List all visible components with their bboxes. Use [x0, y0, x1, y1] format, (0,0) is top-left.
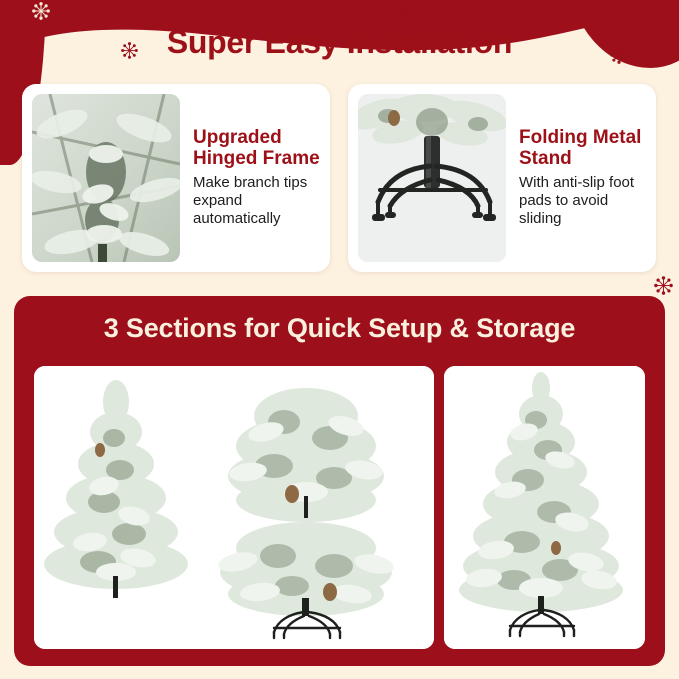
page-title: Super Easy Installation [0, 24, 679, 61]
feature-description: Make branch tips expand automatically [193, 174, 320, 227]
feature-photo-metal-stand [358, 94, 506, 262]
feature-text-block: Folding Metal Stand With anti-slip foot … [506, 128, 646, 227]
banner-title: 3 Sections for Quick Setup & Storage [14, 313, 665, 344]
section-card-tree-parts [34, 366, 434, 649]
feature-card-hinged-frame: Upgraded Hinged Frame Make branch tips e… [22, 84, 330, 272]
snowflake-icon [32, 2, 50, 20]
section-card-assembled-tree [444, 366, 645, 649]
feature-text-block: Upgraded Hinged Frame Make branch tips e… [180, 128, 320, 227]
promo-graphic: Super Easy Installation [0, 0, 679, 679]
feature-photo-flocked-branches [32, 94, 180, 262]
feature-description: With anti-slip foot pads to avoid slidin… [519, 174, 646, 227]
feature-heading: Folding Metal Stand [519, 128, 646, 169]
sections-banner-panel: 3 Sections for Quick Setup & Storage [14, 296, 665, 666]
feature-card-metal-stand: Folding Metal Stand With anti-slip foot … [348, 84, 656, 272]
feature-heading: Upgraded Hinged Frame [193, 128, 320, 169]
snowflake-icon [654, 276, 673, 295]
snowflake-icon [396, 3, 414, 21]
